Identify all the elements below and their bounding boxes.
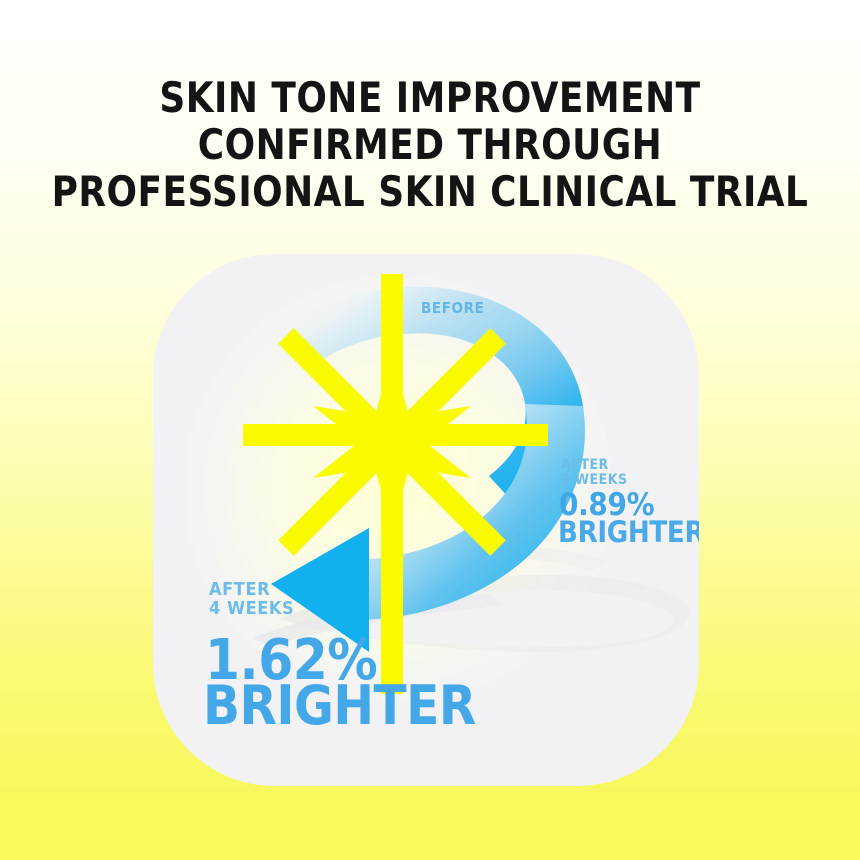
after-2-weeks-unit: BRIGHTER [558, 517, 699, 548]
infographic-canvas: SKIN TONE IMPROVEMENT CONFIRMED THROUGH … [0, 0, 860, 860]
page-title-line-2: CONFIRMED THROUGH [22, 121, 839, 168]
after-4-weeks-unit: BRIGHTER [203, 677, 476, 735]
after-4-weeks-label: AFTER 4 WEEKS [209, 580, 294, 619]
diagram-card: BEFORE AFTER 2 WEEKS 0.89% BRIGHTER AFTE… [153, 254, 699, 786]
page-title-line-3: PROFESSIONAL SKIN CLINICAL TRIAL [22, 168, 839, 215]
before-label: BEFORE [421, 300, 484, 316]
page-title-line-1: SKIN TONE IMPROVEMENT [22, 74, 839, 121]
after-2-weeks-label: AFTER 2 WEEKS [561, 458, 628, 488]
page-title: SKIN TONE IMPROVEMENT CONFIRMED THROUGH … [22, 74, 839, 215]
